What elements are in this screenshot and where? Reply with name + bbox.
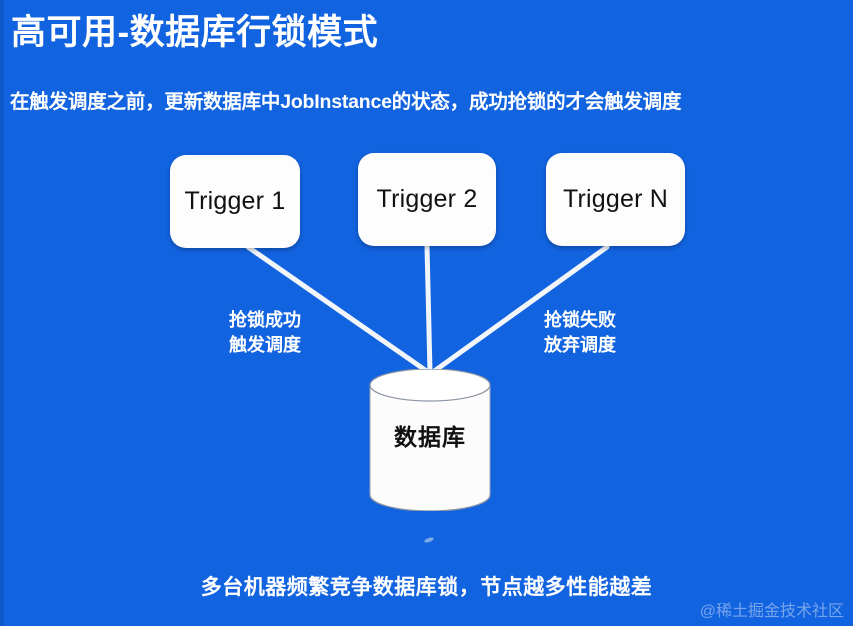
slide-canvas: 高可用-数据库行锁模式 在触发调度之前，更新数据库中JobInstance的状态… <box>0 0 853 626</box>
edge-label-lock-success-line1: 抢锁成功 <box>205 308 325 333</box>
edge-label-lock-failure: 抢锁失败 放弃调度 <box>520 308 640 358</box>
edge-label-lock-success-line2: 触发调度 <box>205 333 325 358</box>
watermark: @稀土掘金技术社区 <box>700 597 844 621</box>
trigger-node-1-label: Trigger 1 <box>185 187 286 216</box>
database-label: 数据库 <box>369 418 491 452</box>
trigger-node-1[interactable]: Trigger 1 <box>170 155 300 248</box>
trigger-node-3[interactable]: Trigger N <box>546 153 685 246</box>
edge-label-lock-success: 抢锁成功 触发调度 <box>205 308 325 358</box>
edge-label-lock-failure-line2: 放弃调度 <box>520 333 640 358</box>
trigger-node-2[interactable]: Trigger 2 <box>358 153 496 246</box>
connector-trigger2-to-db <box>427 246 430 372</box>
trigger-node-2-label: Trigger 2 <box>377 185 478 214</box>
trigger-node-3-label: Trigger N <box>563 185 668 214</box>
connector-lines <box>0 0 853 626</box>
edge-label-lock-failure-line1: 抢锁失败 <box>520 308 640 333</box>
